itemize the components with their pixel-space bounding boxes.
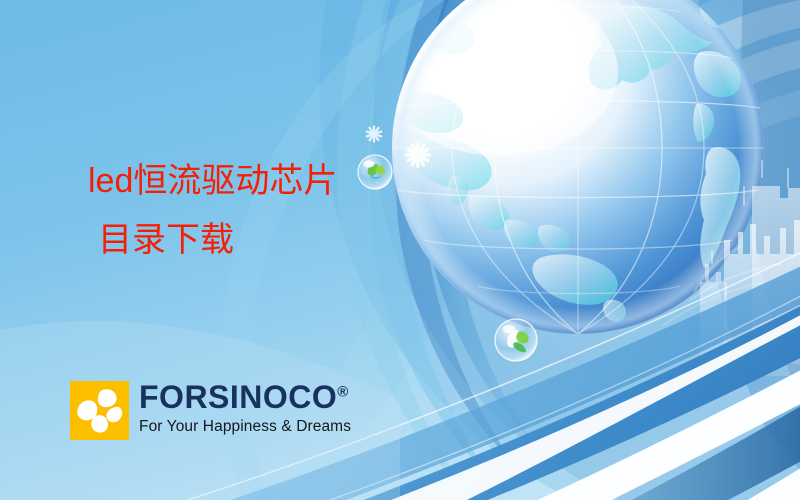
headline-line-2: 目录下载 bbox=[82, 222, 412, 259]
logo-wordmark: FORSINOCO® bbox=[139, 381, 351, 413]
logo-wordmark-text: FORSINOCO bbox=[139, 379, 337, 415]
headline-line-1: led恒流驱动芯片 bbox=[82, 163, 412, 200]
logo-tagline: For Your Happiness & Dreams bbox=[139, 419, 351, 435]
slide-headline: led恒流驱动芯片 目录下载 bbox=[82, 163, 412, 258]
company-logo: FORSINOCO® For Your Happiness & Dreams bbox=[70, 381, 351, 440]
logo-text-block: FORSINOCO® For Your Happiness & Dreams bbox=[139, 381, 351, 435]
registered-trademark-symbol: ® bbox=[337, 383, 348, 400]
slide-canvas: led恒流驱动芯片 目录下载 FORSINOCO® For bbox=[0, 0, 800, 500]
four-petal-flower-icon bbox=[70, 381, 129, 440]
